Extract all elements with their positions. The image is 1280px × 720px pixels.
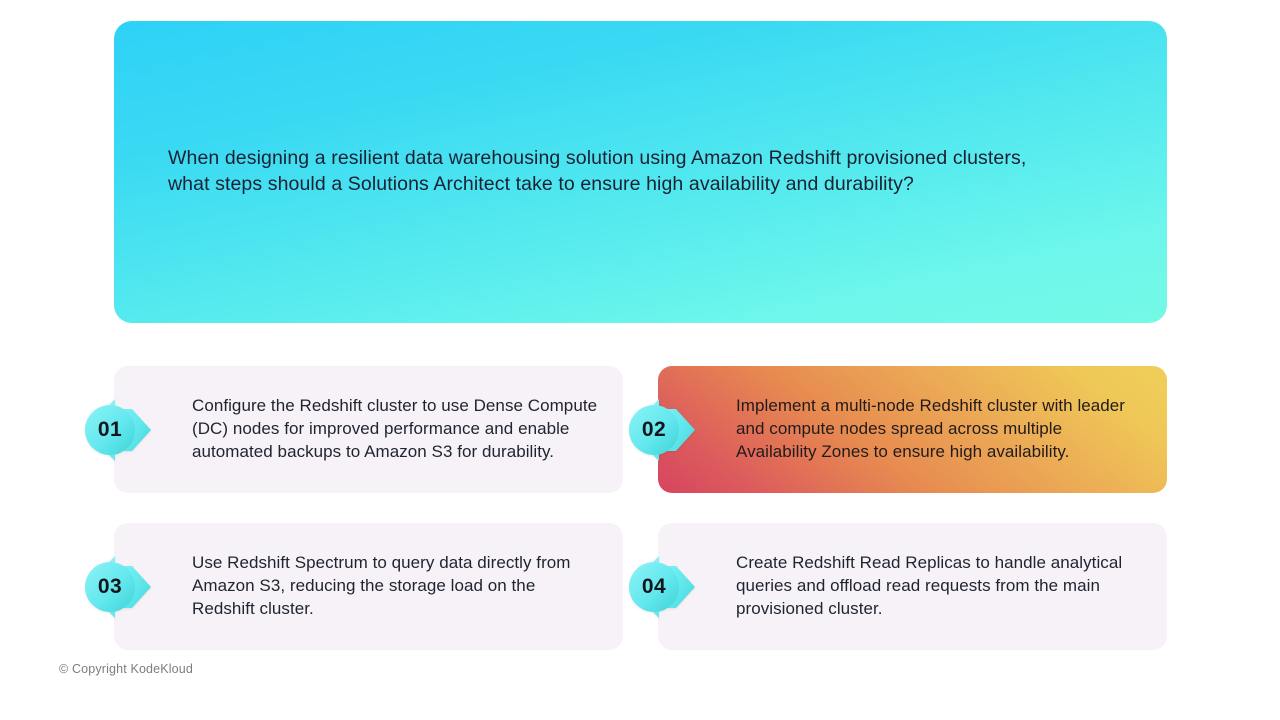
arrow-right-badge-icon: 01 (85, 398, 153, 462)
arrow-right-badge-icon: 03 (85, 555, 153, 619)
option-text-03: Use Redshift Spectrum to query data dire… (114, 552, 623, 621)
option-card-02[interactable]: 02 Implement a multi-node Redshift clust… (658, 366, 1167, 493)
option-text-01: Configure the Redshift cluster to use De… (114, 395, 623, 464)
question-panel: When designing a resilient data warehous… (114, 21, 1167, 323)
quiz-slide: When designing a resilient data warehous… (0, 0, 1280, 720)
option-card-04[interactable]: 04 Create Redshift Read Replicas to hand… (658, 523, 1167, 650)
option-text-04: Create Redshift Read Replicas to handle … (658, 552, 1167, 621)
arrow-right-badge-icon: 02 (629, 398, 697, 462)
option-card-03[interactable]: 03 Use Redshift Spectrum to query data d… (114, 523, 623, 650)
option-text-02: Implement a multi-node Redshift cluster … (658, 395, 1167, 464)
options-grid: 01 Configure the Redshift cluster to use… (114, 366, 1167, 650)
question-text: When designing a resilient data warehous… (114, 146, 1104, 198)
arrow-right-badge-icon: 04 (629, 555, 697, 619)
option-number-01: 01 (85, 398, 135, 462)
option-number-03: 03 (85, 555, 135, 619)
option-card-01[interactable]: 01 Configure the Redshift cluster to use… (114, 366, 623, 493)
option-number-04: 04 (629, 555, 679, 619)
option-number-02: 02 (629, 398, 679, 462)
copyright-footer: © Copyright KodeKloud (59, 662, 193, 676)
